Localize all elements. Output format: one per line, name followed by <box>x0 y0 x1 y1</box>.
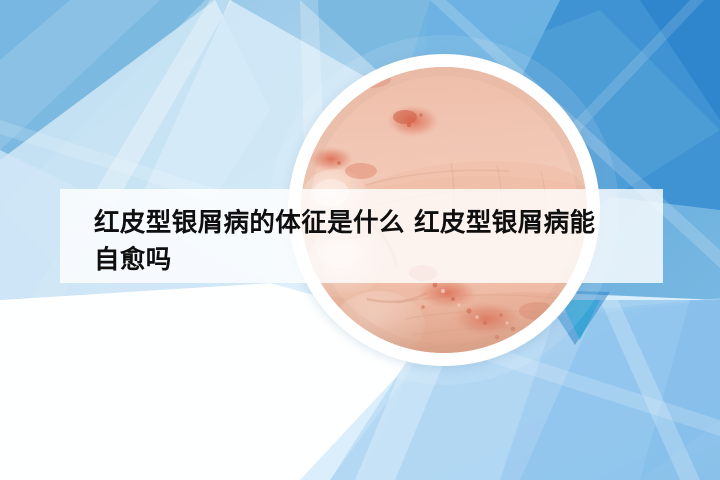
title-banner: 红皮型银屑病的体征是什么 红皮型银屑病能 自愈吗 <box>60 189 663 283</box>
thumbnail-canvas: 红皮型银屑病的体征是什么 红皮型银屑病能 自愈吗 <box>0 0 720 480</box>
article-title-line-2: 自愈吗 <box>94 242 629 279</box>
article-title-line-1: 红皮型银屑病的体征是什么 红皮型银屑病能 <box>94 205 629 242</box>
